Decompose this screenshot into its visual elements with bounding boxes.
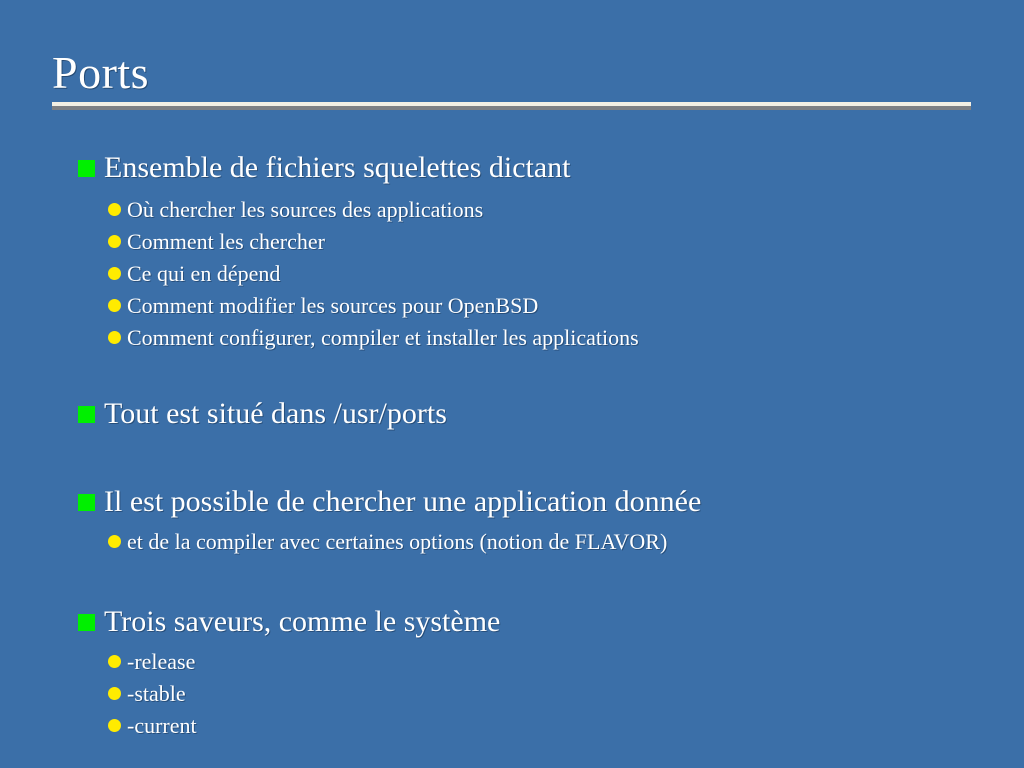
bullet-group: Trois saveurs, comme le système -release… [0,602,1024,742]
dot-bullet-icon [108,299,121,312]
square-bullet-icon [78,406,95,423]
dot-bullet-icon [108,331,121,344]
bullet-level2-label: Ce qui en dépend [127,258,280,289]
presentation-slide: Ports Ensemble de fichiers squelettes di… [0,0,1024,768]
bullet-group: Tout est situé dans /usr/ports [0,394,1024,438]
slide-title-block: Ports [52,48,972,106]
bullet-level1-label: Ensemble de fichiers squelettes dictant [104,148,571,188]
dot-bullet-icon [108,655,121,668]
bullet-level2-label: Où chercher les sources des applications [127,194,483,225]
bullet-level2: Comment configurer, compiler et installe… [0,322,1024,354]
bullet-level2-label: -stable [127,678,186,709]
dot-bullet-icon [108,267,121,280]
bullet-level2: -stable [0,678,1024,710]
dot-bullet-icon [108,719,121,732]
bullet-group: Ensemble de fichiers squelettes dictant … [0,148,1024,354]
bullet-level2: et de la compiler avec certaines options… [0,526,1024,558]
bullet-level2: Comment modifier les sources pour OpenBS… [0,290,1024,322]
bullet-level2: -release [0,646,1024,678]
square-bullet-icon [78,614,95,631]
bullet-sublist: -release -stable -current [0,646,1024,742]
bullet-level1-label: Tout est situé dans /usr/ports [104,394,447,434]
bullet-level2-label: et de la compiler avec certaines options… [127,526,667,557]
bullet-sublist: Où chercher les sources des applications… [0,194,1024,354]
bullet-level2: -current [0,710,1024,742]
bullet-level2: Ce qui en dépend [0,258,1024,290]
dot-bullet-icon [108,535,121,548]
bullet-level1: Il est possible de chercher une applicat… [0,482,1024,526]
bullet-level1-label: Trois saveurs, comme le système [104,602,500,642]
bullet-level2-label: Comment configurer, compiler et installe… [127,322,639,353]
bullet-level1: Tout est situé dans /usr/ports [0,394,1024,438]
square-bullet-icon [78,160,95,177]
bullet-level1: Ensemble de fichiers squelettes dictant [0,148,1024,194]
bullet-group: Il est possible de chercher une applicat… [0,482,1024,558]
bullet-level2-label: Comment modifier les sources pour OpenBS… [127,290,538,321]
bullet-sublist: et de la compiler avec certaines options… [0,526,1024,558]
bullet-level2-label: -release [127,646,195,677]
dot-bullet-icon [108,203,121,216]
bullet-level1: Trois saveurs, comme le système [0,602,1024,646]
square-bullet-icon [78,494,95,511]
slide-body: Ensemble de fichiers squelettes dictant … [0,148,1024,742]
bullet-level2-label: Comment les chercher [127,226,325,257]
bullet-level1-label: Il est possible de chercher une applicat… [104,482,701,522]
bullet-level2: Comment les chercher [0,226,1024,258]
dot-bullet-icon [108,235,121,248]
title-divider [52,102,971,106]
page-title: Ports [52,48,972,98]
bullet-level2-label: -current [127,710,197,741]
dot-bullet-icon [108,687,121,700]
bullet-level2: Où chercher les sources des applications [0,194,1024,226]
